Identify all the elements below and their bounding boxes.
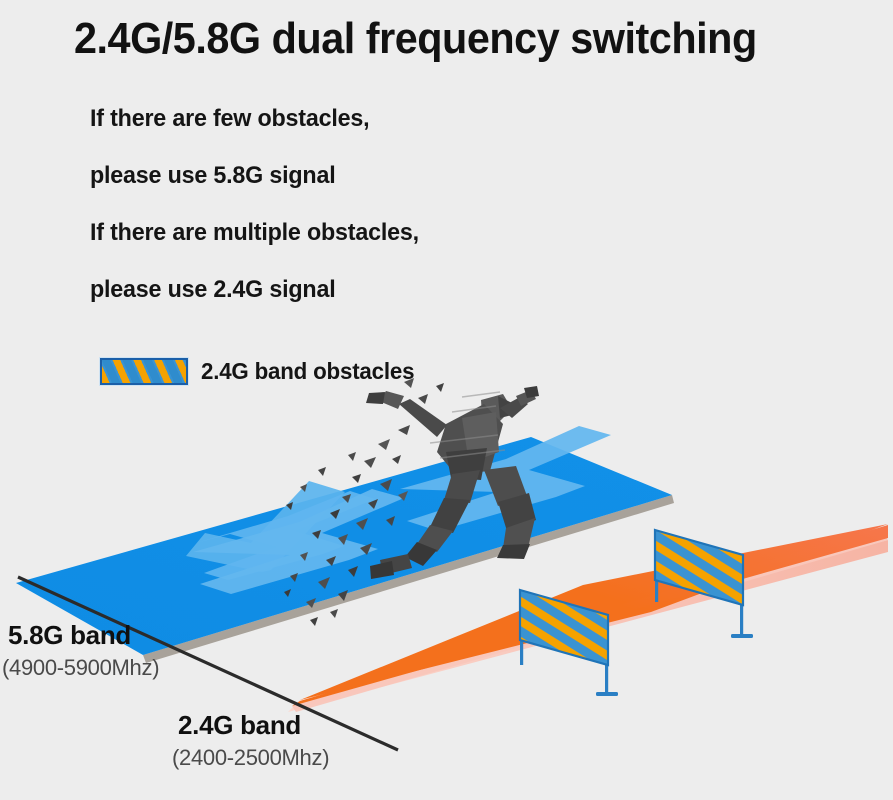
- blue-track-edge: [143, 495, 674, 663]
- band-frequency-5-8g: (4900-5900Mhz): [2, 655, 159, 681]
- body-line-4: please use 2.4G signal: [90, 276, 335, 304]
- orange-track-edge: [288, 540, 888, 712]
- hurdle-front-leg-right: [605, 615, 608, 695]
- hurdle-back-leg-left: [655, 530, 658, 602]
- hurdle-back-leg-right: [740, 555, 743, 637]
- hurdle-front-leg-left: [520, 590, 523, 665]
- orange-track-2-4g: [288, 524, 888, 712]
- striped-obstacle-swatch-icon: [100, 358, 188, 385]
- low-poly-sprinter-figure-icon: [284, 378, 539, 626]
- body-line-2: please use 5.8G signal: [90, 162, 335, 190]
- body-line-1: If there are few obstacles,: [90, 105, 369, 133]
- chevron-arrow-group: [193, 426, 611, 594]
- band-name-5-8g: 5.8G band: [8, 620, 131, 650]
- infographic-canvas: 2.4G/5.8G dual frequency switching If th…: [0, 0, 893, 800]
- hurdle-back-foot-right: [731, 634, 753, 638]
- legend: 2.4G band obstacles: [100, 358, 421, 385]
- legend-label: 2.4G band obstacles: [201, 358, 414, 385]
- chevron-shape-a: [193, 489, 404, 594]
- hurdle-front-panel: [520, 590, 608, 665]
- chevron-forward-arrow-a: [196, 491, 375, 580]
- band-frequency-2-4g: (2400-2500Mhz): [172, 745, 329, 771]
- orange-track-surface: [300, 524, 888, 700]
- band-caption-5-8g: 5.8G band (4900-5900Mhz): [8, 620, 159, 681]
- hurdle-back: [655, 530, 753, 638]
- band-caption-2-4g: 2.4G band (2400-2500Mhz): [178, 710, 329, 771]
- chevron-shape-b: [400, 426, 611, 531]
- orange-track-surface-main: [292, 525, 888, 706]
- band-name-2-4g: 2.4G band: [178, 710, 301, 740]
- page-title: 2.4G/5.8G dual frequency switching: [74, 14, 757, 64]
- orange-track-front-highlight: [292, 534, 888, 712]
- hurdle-front: [520, 590, 618, 696]
- hurdle-back-panel: [655, 530, 743, 605]
- chevron-forward-arrow-1: [186, 481, 345, 572]
- body-line-3: If there are multiple obstacles,: [90, 219, 419, 247]
- dispersion-particles: [284, 378, 444, 626]
- hurdle-front-foot-right: [596, 692, 618, 696]
